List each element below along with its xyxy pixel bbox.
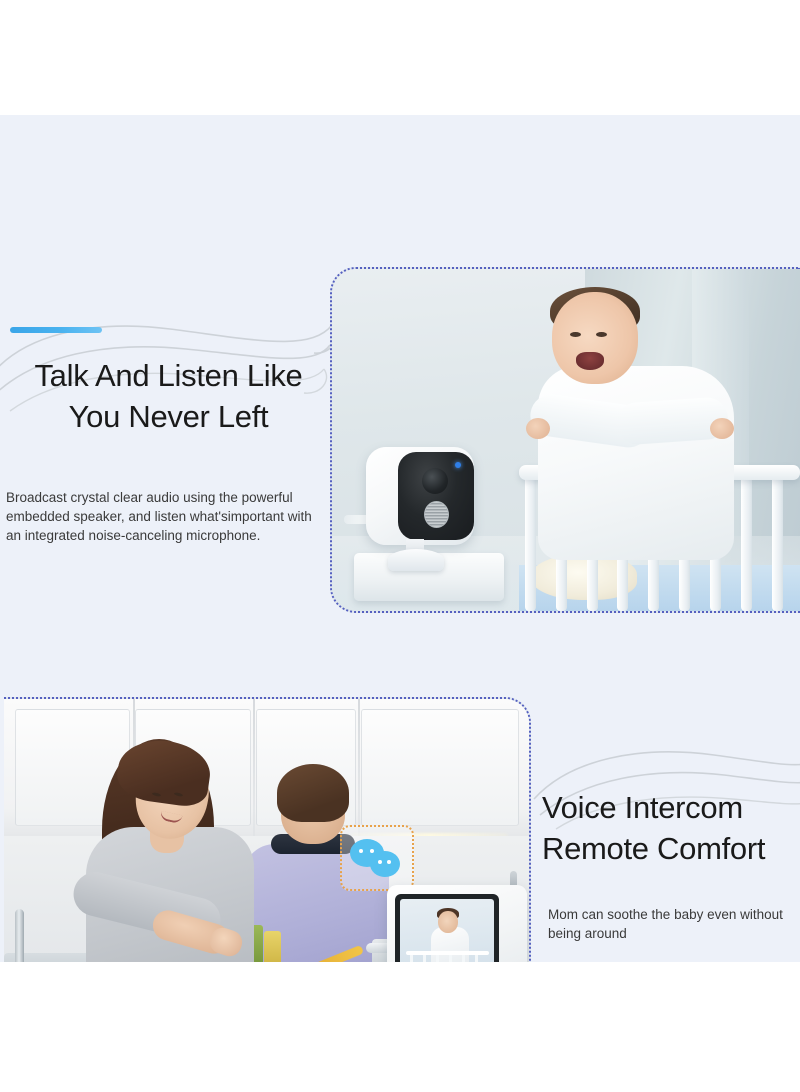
camera-base	[388, 549, 444, 571]
product-feature-page: Hi,mom~	[0, 0, 800, 1092]
wechat-icon	[340, 825, 414, 891]
headline-voice-intercom: Voice Intercom Remote Comfort	[542, 787, 800, 869]
security-camera-device	[360, 441, 488, 569]
headline-line-2: Remote Comfort	[542, 828, 800, 869]
faucet	[15, 909, 24, 962]
baby-monitor-device	[387, 885, 527, 962]
headline-line-2: You Never Left	[6, 396, 331, 437]
camera-front-panel	[398, 452, 474, 540]
woman-figure	[78, 735, 293, 962]
headline-talk-listen: Talk And Listen Like You Never Left	[6, 355, 331, 437]
headline-line-1: Voice Intercom	[542, 787, 800, 828]
baby-figure	[534, 292, 744, 560]
accent-bar-top	[10, 327, 102, 333]
camera-lens-icon	[422, 468, 448, 494]
headline-line-1: Talk And Listen Like	[6, 355, 331, 396]
content-band: Hi,mom~	[0, 115, 800, 962]
body-text-talk-listen: Broadcast crystal clear audio using the …	[6, 488, 316, 545]
camera-speaker-icon	[424, 501, 449, 528]
body-text-voice-intercom: Mom can soothe the baby even without bei…	[548, 905, 800, 943]
kitchen-photo: Hi,baby~	[4, 697, 531, 962]
nursery-photo: Hi,mom~	[330, 267, 800, 613]
camera-status-led	[455, 462, 461, 468]
monitor-screen	[400, 899, 494, 962]
